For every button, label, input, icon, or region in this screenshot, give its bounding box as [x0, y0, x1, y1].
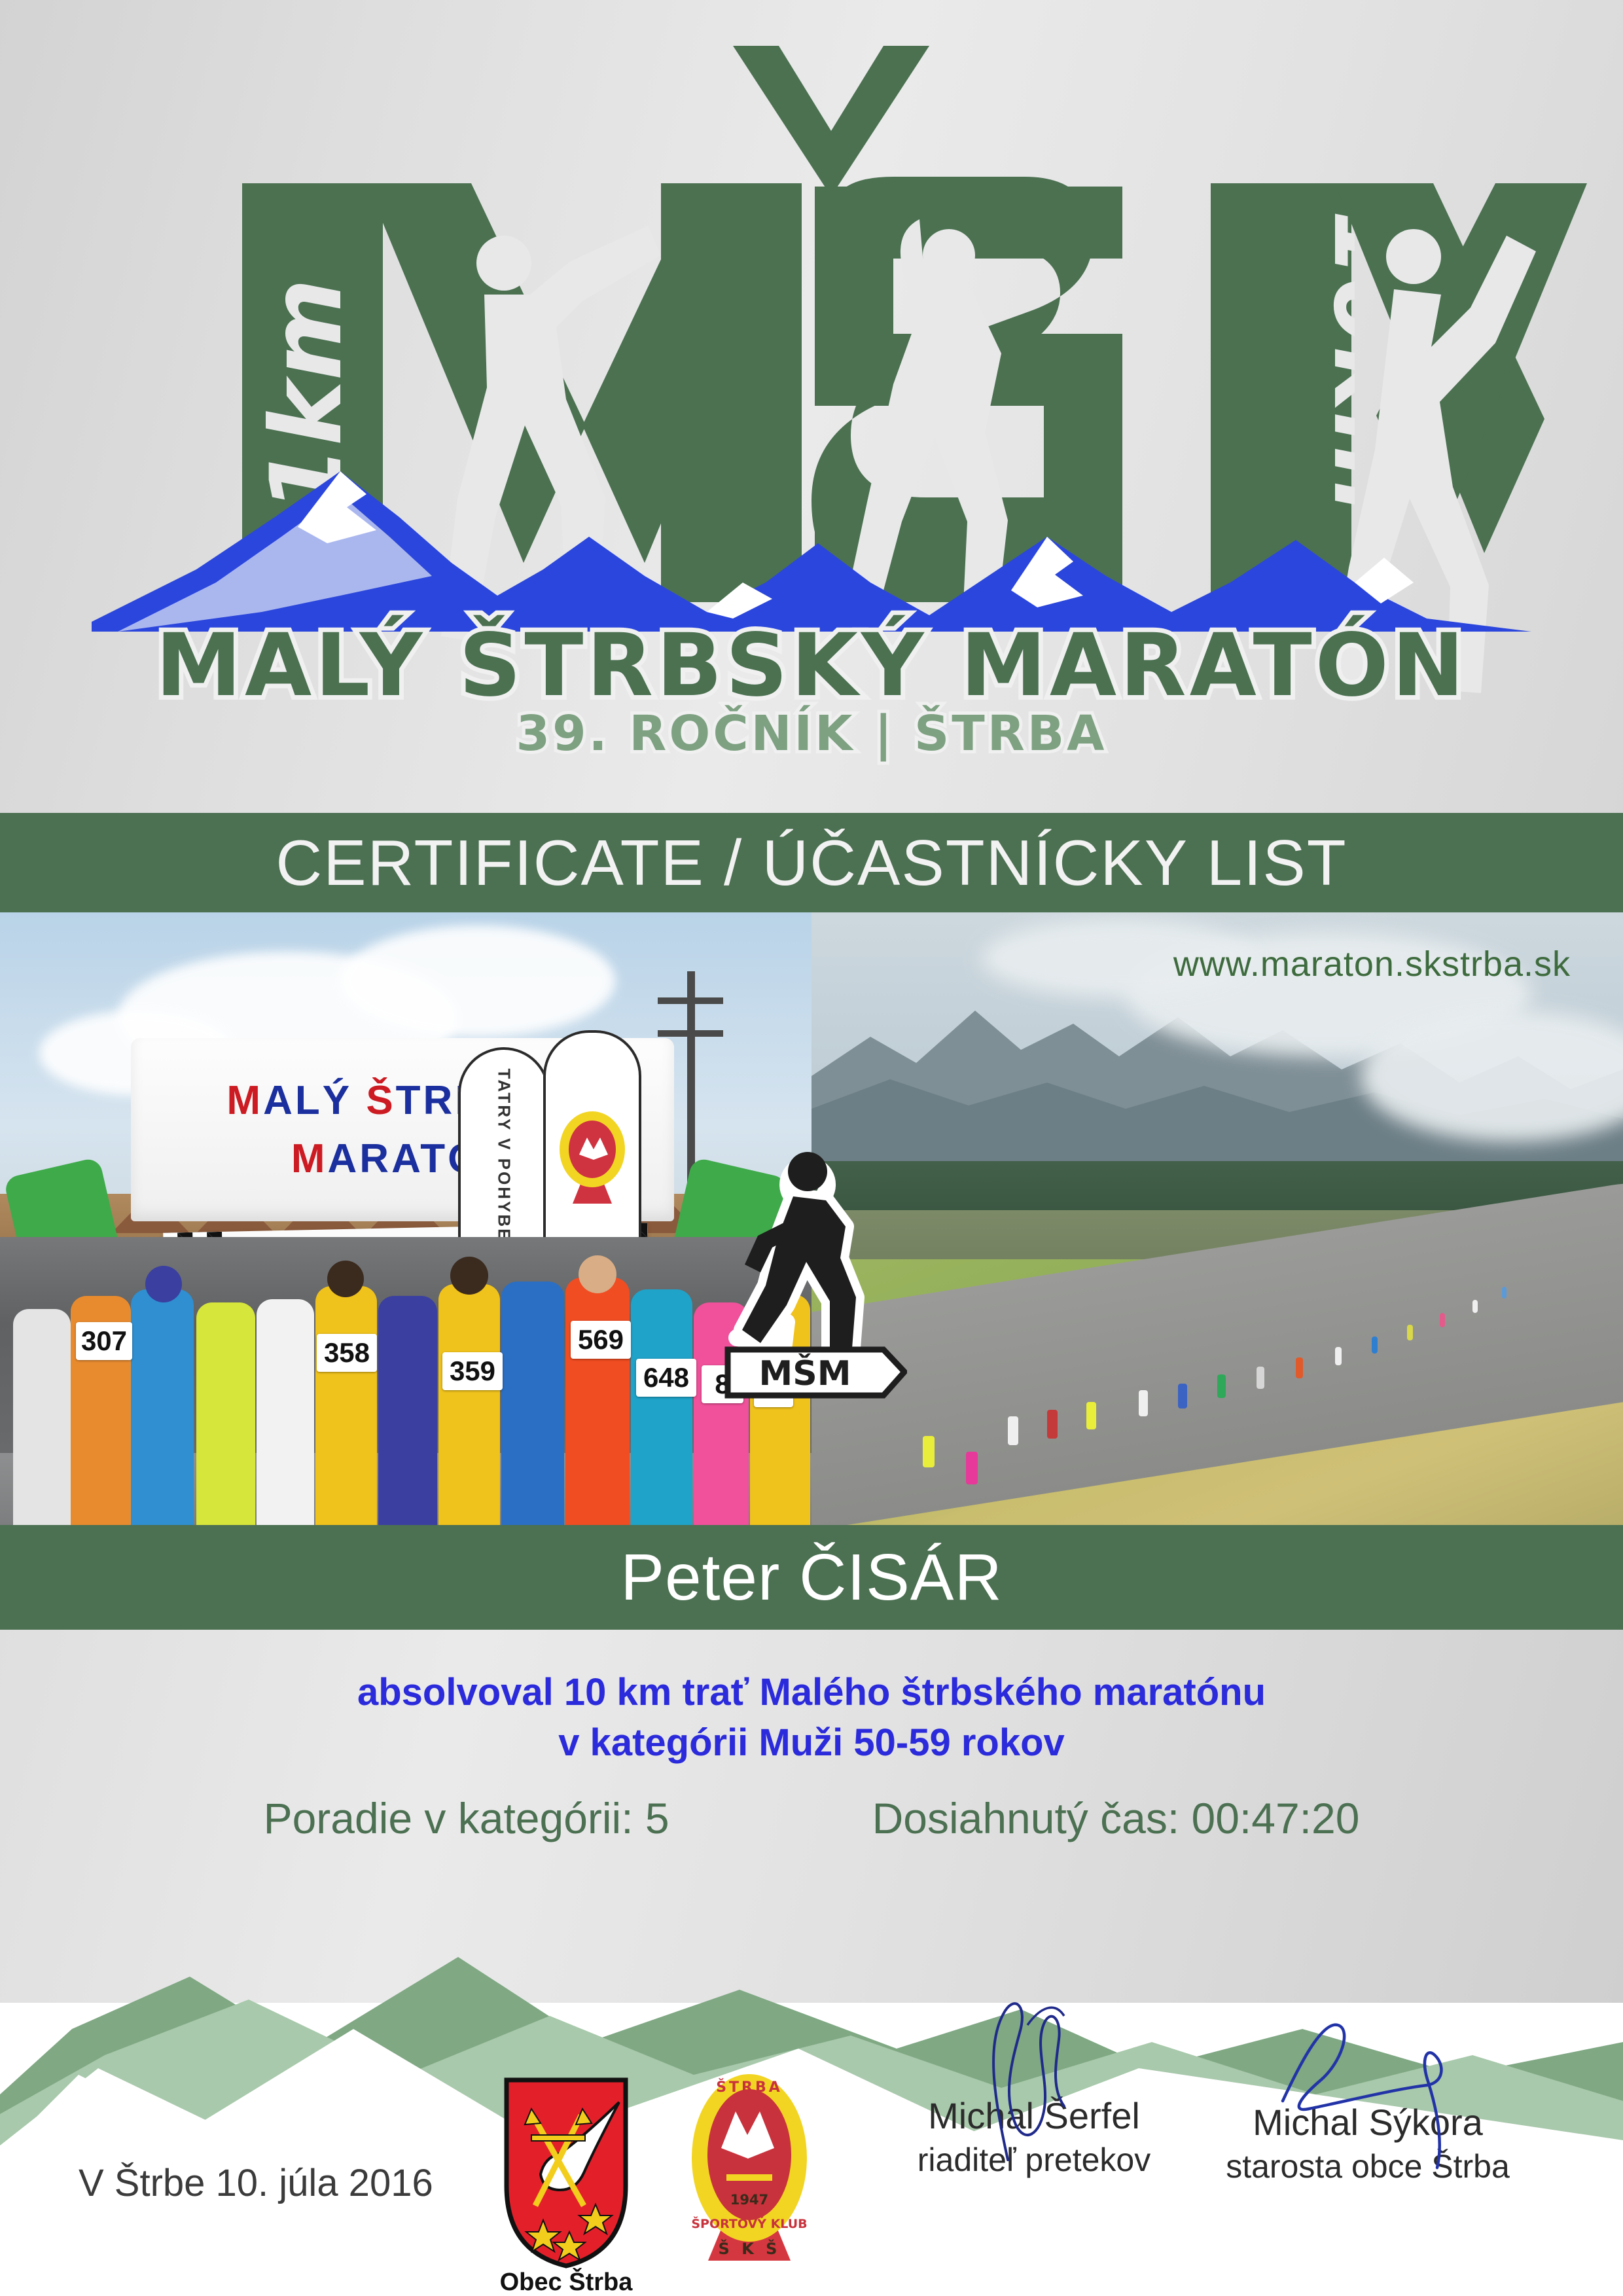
edition-subtitle: 39. ROČNÍK | ŠTRBA — [0, 706, 1623, 762]
tatra-landscape-photo: www.maraton.skstrba.sk — [811, 912, 1623, 1525]
sks-flag-logo-icon — [553, 1109, 632, 1207]
website-url[interactable]: www.maraton.skstrba.sk — [1173, 944, 1571, 984]
certificate-page: 31km 10km — [0, 0, 1623, 2296]
runner-crowd: 307 358 359 569 648 8 6 — [0, 1237, 811, 1525]
certificate-heading: CERTIFICATE / ÚČASTNÍCKY LIST — [276, 826, 1347, 900]
results-row: Poradie v kategórii: 5 Dosiahnutý čas: 0… — [0, 1793, 1623, 1843]
arch-line1-red: M — [226, 1078, 263, 1123]
sks-logo-abbr: Š K Š — [719, 2238, 781, 2258]
footer: V Štrbe 10. júla 2016 Obec Štrba — [0, 2121, 1623, 2296]
coat-of-arms-label: Obec Štrba — [488, 2269, 645, 2296]
issue-date: V Štrbe 10. júla 2016 — [79, 2161, 433, 2205]
description-line-1: absolvoval 10 km trať Malého štrbského m… — [0, 1668, 1623, 1718]
category-rank: Poradie v kategórii: 5 — [264, 1793, 669, 1843]
runner-bib: 307 — [76, 1322, 132, 1360]
sponsor-flag-sks — [543, 1030, 641, 1259]
runner-bib: 569 — [571, 1321, 631, 1359]
certificate-heading-band: CERTIFICATE / ÚČASTNÍCKY LIST — [0, 813, 1623, 912]
obec-strba-coat-of-arms-icon — [497, 2075, 635, 2271]
sks-logo-year: 1947 — [730, 2192, 768, 2208]
svg-text:MŠM: MŠM — [759, 1353, 851, 1393]
signature-block-director: Michal Šerfel riaditeľ pretekov — [870, 2094, 1198, 2179]
sks-club-logo-icon: ŠTRBA 1947 ŠPORTOVÝ KLUB Š K Š — [681, 2070, 818, 2266]
start-line-photo: MALÝ ŠTRBSKÝ MARATÓN ŠTART - CIEĽ TATRY … — [0, 912, 811, 1525]
signature-scribble-icon — [1237, 2003, 1499, 2173]
arch-line1-red2: Š — [366, 1078, 395, 1123]
participant-name: Peter ČISÁR — [620, 1540, 1002, 1615]
signature-block-mayor: Michal Sýkora starosta obce Štrba — [1204, 2101, 1531, 2185]
sks-logo-ring-text: ŠPORTOVÝ KLUB — [691, 2215, 807, 2231]
arch-line2-red: M — [291, 1136, 328, 1181]
participant-description: absolvoval 10 km trať Malého štrbského m… — [0, 1668, 1623, 1768]
photo-strip: MALÝ ŠTRBSKÝ MARATÓN ŠTART - CIEĽ TATRY … — [0, 912, 1623, 1525]
description-line-2: v kategórii Muži 50-59 rokov — [0, 1718, 1623, 1768]
page-title: MALÝ ŠTRBSKÝ MARATÓN — [0, 615, 1623, 716]
msm-runner-badge-icon: MŠM — [724, 1141, 907, 1403]
participant-name-band: Peter ČISÁR — [0, 1525, 1623, 1630]
finish-time: Dosiahnutý čas: 00:47:20 — [872, 1793, 1360, 1843]
signature-scribble-icon — [929, 1996, 1139, 2166]
start-arch: MALÝ ŠTRBSKÝ MARATÓN ŠTART - CIEĽ — [26, 1034, 766, 1230]
sks-logo-top-text: ŠTRBA — [716, 2079, 783, 2096]
runner-bib: 358 — [317, 1334, 377, 1372]
runner-bib: 648 — [636, 1359, 696, 1397]
flag-tatry-text: TATRY V POHYBE — [494, 1069, 514, 1242]
runner-bib: 359 — [442, 1352, 503, 1390]
arch-line1-rest: ALÝ — [263, 1078, 366, 1123]
sponsor-flag-tatry: TATRY V POHYBE — [458, 1047, 550, 1263]
